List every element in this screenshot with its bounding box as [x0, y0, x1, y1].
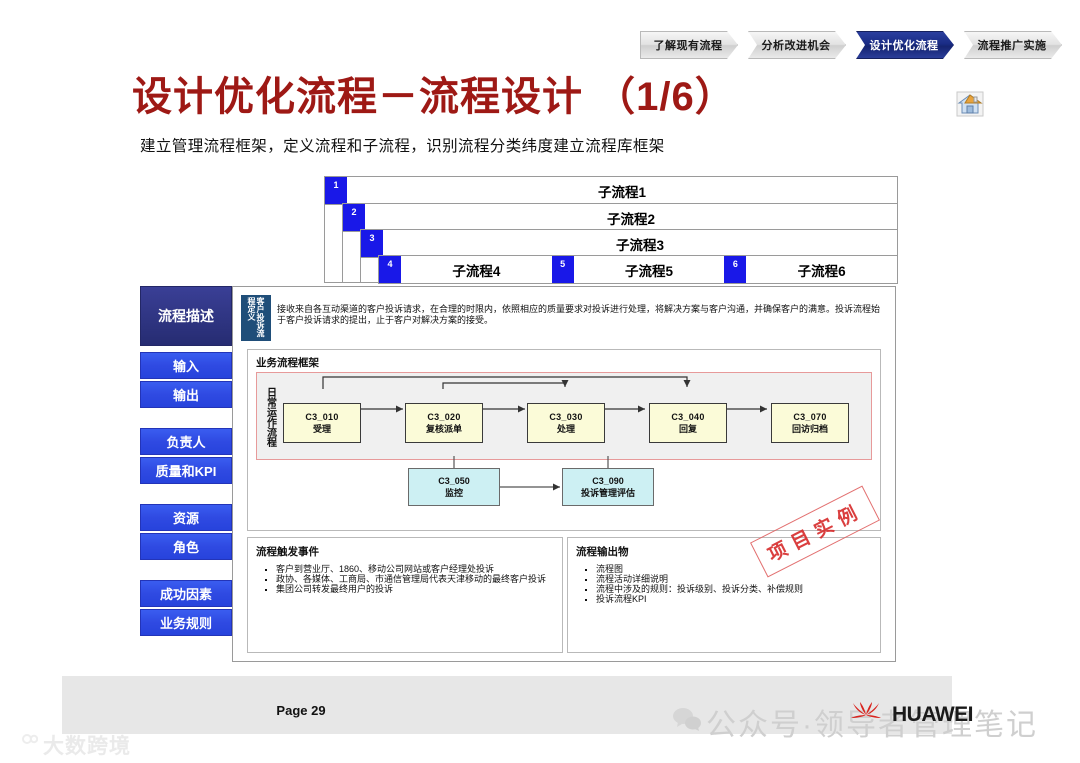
list-item: 流程中涉及的规则：投诉级别、投诉分类、补偿规则	[596, 584, 874, 594]
sidebar-item-input[interactable]: 输入	[140, 352, 232, 379]
flow-node-c3-070[interactable]: C3_070 回访归档	[771, 403, 849, 443]
huawei-wordmark: HUAWEI	[892, 703, 973, 727]
flow-node-name: 回复	[679, 423, 697, 435]
list-item: 流程活动详细说明	[596, 574, 874, 584]
breadcrumb: 了解现有流程 分析改进机会 设计优化流程 流程推广实施	[640, 32, 1072, 58]
subprocess-label-6: 子流程6	[746, 260, 897, 280]
subprocess-row-2[interactable]: 2 子流程2	[342, 203, 898, 232]
tab-stub-2	[342, 229, 361, 283]
flow-node-c3-020[interactable]: C3_020 复核派单	[405, 403, 483, 443]
flow-node-c3-050[interactable]: C3_050 监控	[408, 468, 500, 506]
tab-stub-3	[360, 255, 379, 283]
flow-node-code: C3_010	[305, 411, 338, 423]
breadcrumb-item-2[interactable]: 分析改进机会	[748, 31, 846, 59]
corner-watermark: 大数跨境	[4, 730, 131, 760]
flow-node-name: 复核派单	[426, 423, 462, 435]
process-board: 1 子流程1 2 子流程2 3 子流程3 4 子流程4 5 子流程5 6 子流程…	[140, 176, 896, 662]
flow-node-code: C3_040	[671, 411, 704, 423]
list-item: 政协、各媒体、工商局、市通信管理局代表天津移动的最终客户投诉	[276, 574, 556, 584]
flow-node-code: C3_030	[549, 411, 582, 423]
subprocess-label-1: 子流程1	[347, 181, 897, 201]
sidebar-item-resource[interactable]: 资源	[140, 504, 232, 531]
list-item: 客户到营业厅、1860、移动公司网站或客户经理处投诉	[276, 564, 556, 574]
flow-node-name: 受理	[313, 423, 331, 435]
flow-node-c3-040[interactable]: C3_040 回复	[649, 403, 727, 443]
flow-node-code: C3_020	[427, 411, 460, 423]
detail-card: 客户投诉流程定义 接收来自各互动渠道的客户投诉请求，在合理的时限内，依照相应的质…	[232, 286, 896, 662]
lane-label: 日常运作流程	[263, 379, 277, 455]
subprocess-seg-5[interactable]: 5 子流程5	[552, 256, 725, 283]
flow-node-name: 处理	[557, 423, 575, 435]
subprocess-badge-3: 3	[361, 230, 383, 257]
subprocess-row-4[interactable]: 4 子流程4 5 子流程5 6 子流程6	[378, 255, 898, 284]
flow-node-name: 投诉管理评估	[581, 487, 635, 499]
breadcrumb-item-3[interactable]: 设计优化流程	[856, 31, 954, 59]
process-outputs-title: 流程输出物	[576, 544, 629, 559]
flow-node-code: C3_090	[592, 475, 624, 487]
subprocess-label-2: 子流程2	[365, 208, 897, 228]
process-outputs-list: 流程图 流程活动详细说明 流程中涉及的规则：投诉级别、投诉分类、补偿规则 投诉流…	[582, 564, 874, 604]
tab-stub-1	[324, 203, 343, 283]
list-item: 流程图	[596, 564, 874, 574]
subprocess-seg-4[interactable]: 4 子流程4	[379, 256, 552, 283]
trigger-events-panel: 流程触发事件 客户到营业厅、1860、移动公司网站或客户经理处投诉 政协、各媒体…	[247, 537, 563, 653]
subprocess-label-5: 子流程5	[574, 260, 725, 280]
breadcrumb-item-1[interactable]: 了解现有流程	[640, 31, 738, 59]
sidebar-item-output[interactable]: 输出	[140, 381, 232, 408]
subprocess-tab-stack: 1 子流程1 2 子流程2 3 子流程3 4 子流程4 5 子流程5 6 子流程…	[232, 176, 896, 282]
attribute-sidebar: 流程描述 输入 输出 负责人 质量和KPI 资源 角色 成功因素 业务规则	[140, 286, 232, 662]
huawei-logo: HUAWEI	[846, 702, 973, 728]
huawei-flower-icon	[846, 702, 886, 728]
corner-logo-icon	[4, 732, 38, 758]
process-outputs-panel: 流程输出物 流程图 流程活动详细说明 流程中涉及的规则：投诉级别、投诉分类、补偿…	[567, 537, 881, 653]
trigger-events-title: 流程触发事件	[256, 544, 319, 559]
corner-watermark-text: 大数跨境	[43, 730, 131, 760]
subprocess-row-3[interactable]: 3 子流程3	[360, 229, 898, 258]
breadcrumb-item-4[interactable]: 流程推广实施	[964, 31, 1062, 59]
list-item: 集团公司转发最终用户的投诉	[276, 584, 556, 594]
home-icon[interactable]	[956, 91, 984, 117]
process-definition-text: 接收来自各互动渠道的客户投诉请求，在合理的时限内，依照相应的质量要求对投诉进行处…	[271, 295, 887, 341]
page-title: 设计优化流程－流程设计 （1/6）	[132, 64, 736, 122]
subprocess-badge-6: 6	[724, 256, 746, 283]
sidebar-item-quality-kpi[interactable]: 质量和KPI	[140, 457, 232, 484]
sidebar-item-business-rule[interactable]: 业务规则	[140, 609, 232, 636]
wechat-icon	[672, 706, 702, 732]
daily-operation-lane: 日常运作流程 C3_010	[256, 372, 872, 460]
subprocess-badge-1: 1	[325, 177, 347, 204]
subprocess-label-4: 子流程4	[401, 260, 552, 280]
flow-node-name: 回访归档	[792, 423, 828, 435]
page-subtitle: 建立管理流程框架，定义流程和子流程，识别流程分类纬度建立流程库框架	[140, 134, 665, 156]
trigger-events-list: 客户到营业厅、1860、移动公司网站或客户经理处投诉 政协、各媒体、工商局、市通…	[262, 564, 556, 594]
page-number: Page 29	[62, 703, 540, 718]
sidebar-item-role[interactable]: 角色	[140, 533, 232, 560]
process-definition-row: 客户投诉流程定义 接收来自各互动渠道的客户投诉请求，在合理的时限内，依照相应的质…	[241, 295, 887, 341]
subprocess-seg-6[interactable]: 6 子流程6	[724, 256, 897, 283]
framework-title: 业务流程框架	[256, 355, 319, 370]
subprocess-badge-5: 5	[552, 256, 574, 283]
sidebar-item-owner[interactable]: 负责人	[140, 428, 232, 455]
flow-node-code: C3_050	[438, 475, 470, 487]
support-flow-nodes: C3_050 监控 C3_090 投诉管理评估	[408, 468, 698, 514]
flow-node-name: 监控	[445, 487, 463, 499]
main-flow-nodes: C3_010 受理 C3_020 复核派单 C3_030 处理 C3_040 回…	[283, 387, 869, 447]
flow-node-c3-010[interactable]: C3_010 受理	[283, 403, 361, 443]
flow-node-code: C3_070	[793, 411, 826, 423]
flow-node-c3-030[interactable]: C3_030 处理	[527, 403, 605, 443]
list-item: 投诉流程KPI	[596, 594, 874, 604]
flow-node-c3-090[interactable]: C3_090 投诉管理评估	[562, 468, 654, 506]
subprocess-badge-2: 2	[343, 204, 365, 231]
subprocess-badge-4: 4	[379, 256, 401, 283]
business-process-framework: 业务流程框架 日常运作流程	[247, 349, 881, 531]
sidebar-item-success-factor[interactable]: 成功因素	[140, 580, 232, 607]
sidebar-item-process-description[interactable]: 流程描述	[140, 286, 232, 346]
subprocess-row-1[interactable]: 1 子流程1	[324, 176, 898, 205]
subprocess-label-3: 子流程3	[383, 234, 897, 254]
process-definition-tag: 客户投诉流程定义	[241, 295, 271, 341]
